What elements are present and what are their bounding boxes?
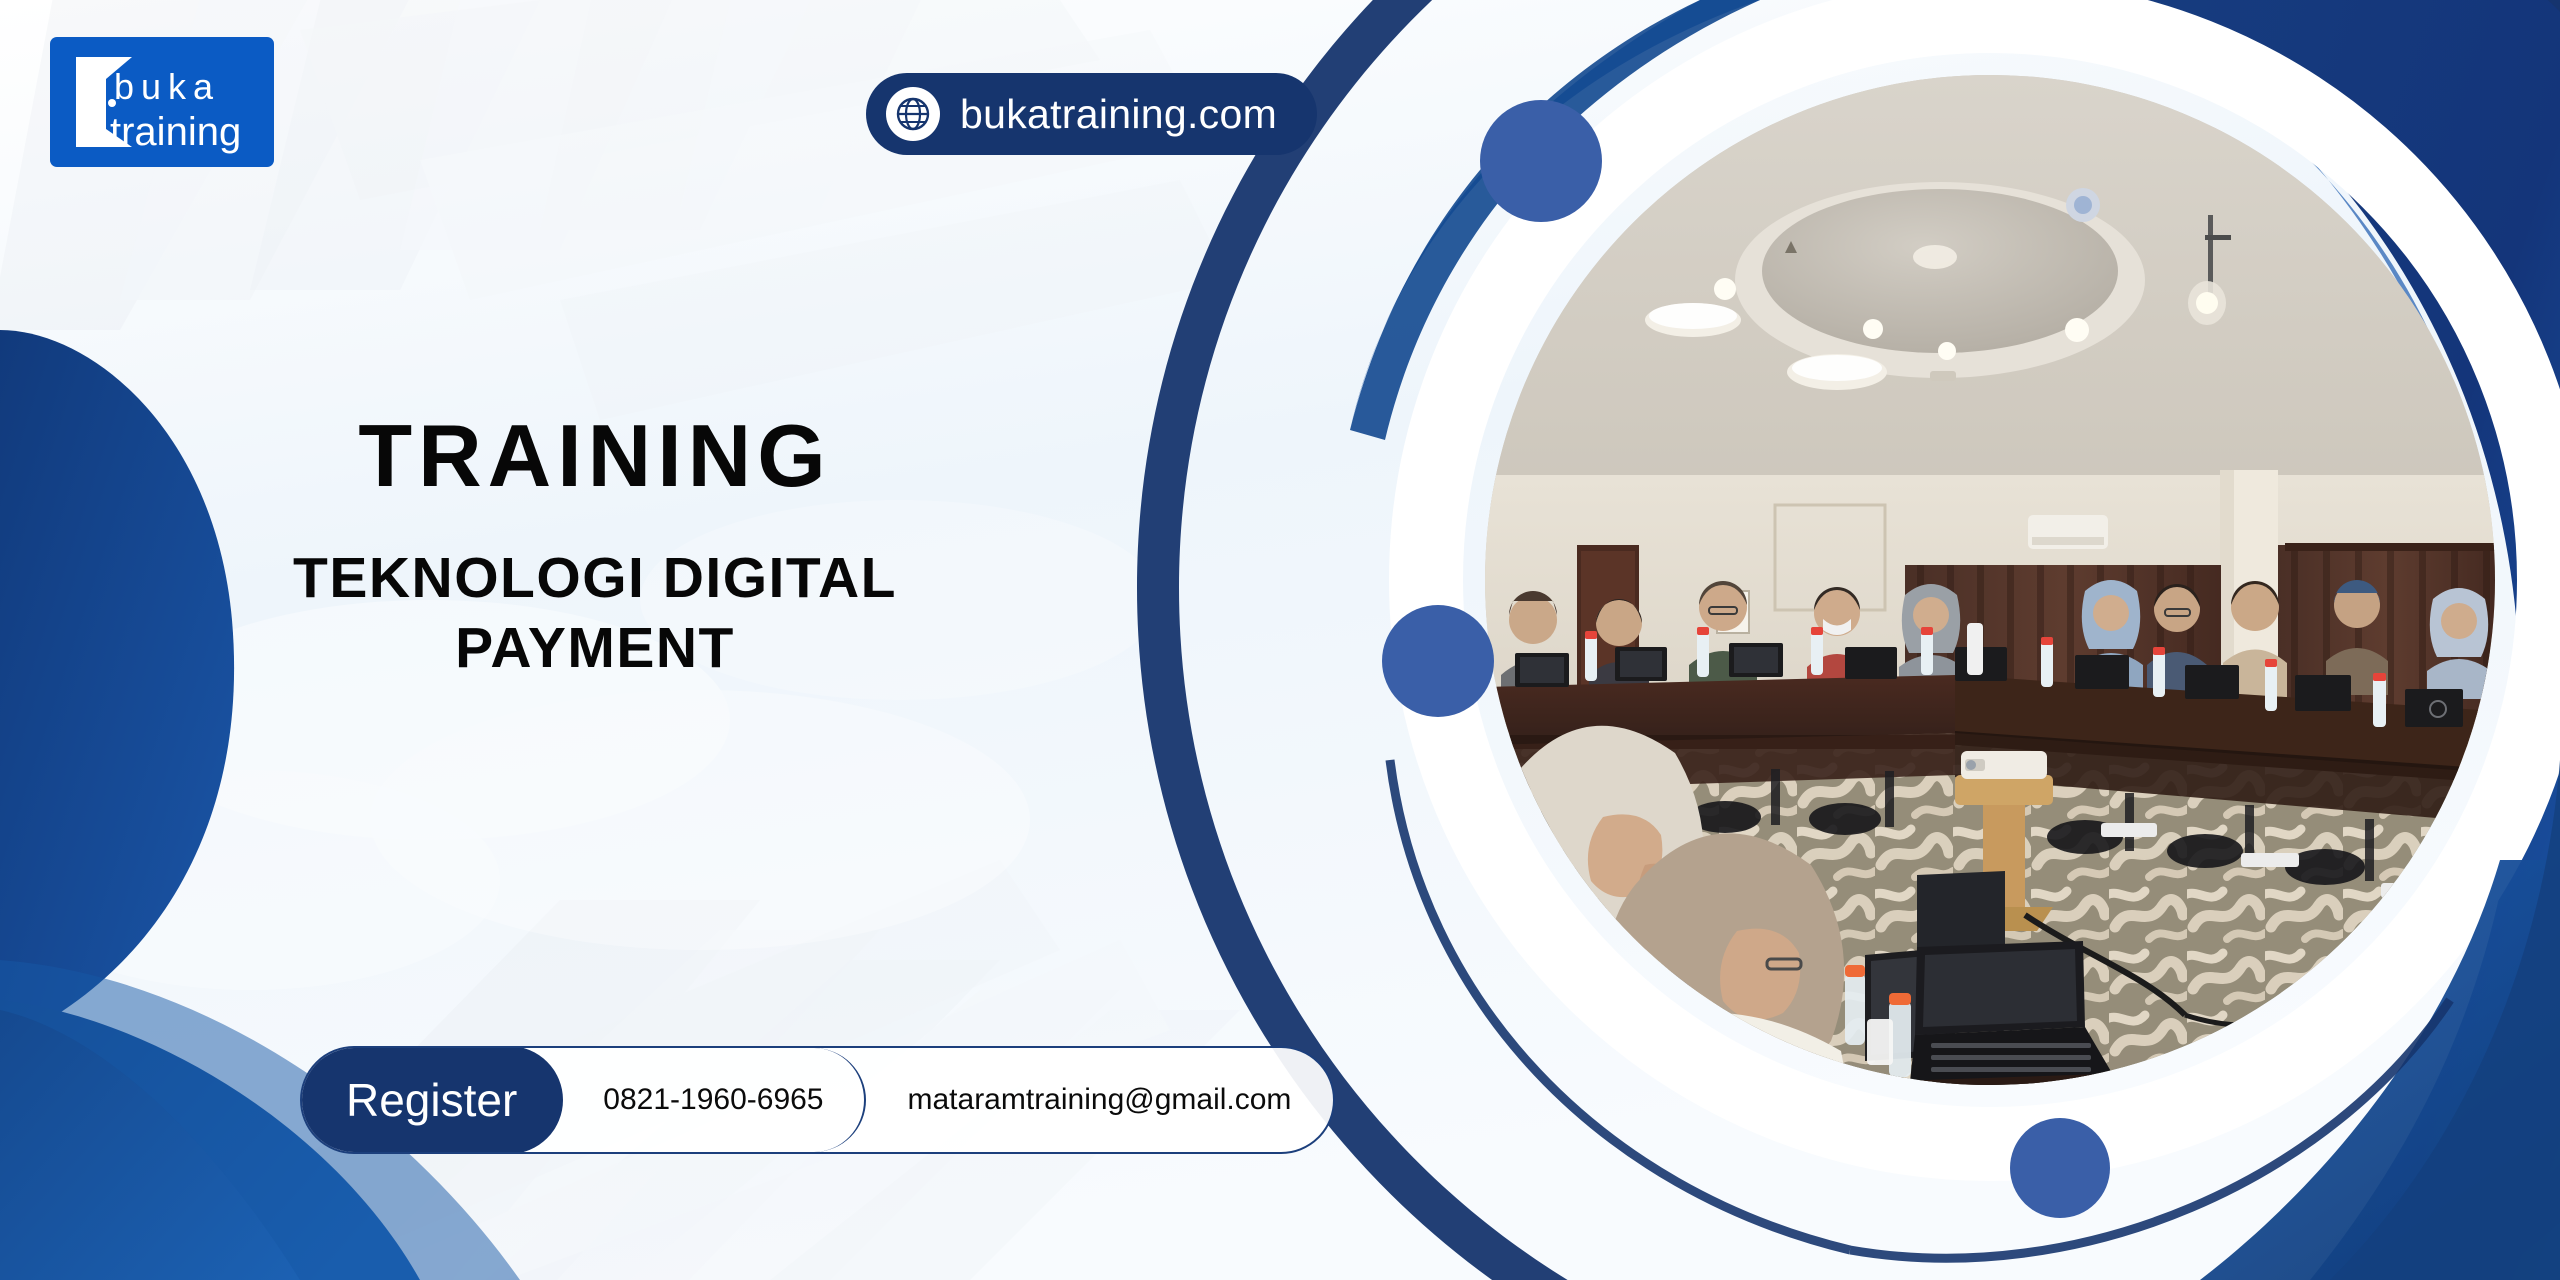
register-button[interactable]: Register (300, 1046, 563, 1154)
training-room-photo (1485, 75, 2495, 1085)
register-email[interactable]: mataramtraining@gmail.com (866, 1048, 1334, 1152)
accent-dot-top (1480, 100, 1602, 222)
buka-training-logo[interactable]: buka training (50, 37, 274, 167)
poster-canvas: buka training bukatraining.com TRAINING … (0, 0, 2560, 1280)
globe-icon (886, 87, 940, 141)
accent-dot-bottom (2010, 1118, 2110, 1218)
website-label: bukatraining.com (960, 91, 1277, 138)
register-phone[interactable]: 0821-1960-6965 (563, 1048, 865, 1152)
page-title: TRAINING (160, 410, 1030, 502)
headline-subtitle-line2: PAYMENT (160, 614, 1030, 684)
svg-text:buka: buka (114, 66, 220, 107)
accent-dot-left (1382, 605, 1494, 717)
headline-block: TRAINING TEKNOLOGI DIGITAL PAYMENT (160, 410, 1030, 683)
register-bar[interactable]: Register 0821-1960-6965 mataramtraining@… (300, 1046, 1335, 1154)
headline-subtitle-line1: TEKNOLOGI DIGITAL (160, 544, 1030, 614)
website-badge[interactable]: bukatraining.com (866, 73, 1317, 155)
svg-text:training: training (110, 110, 241, 154)
